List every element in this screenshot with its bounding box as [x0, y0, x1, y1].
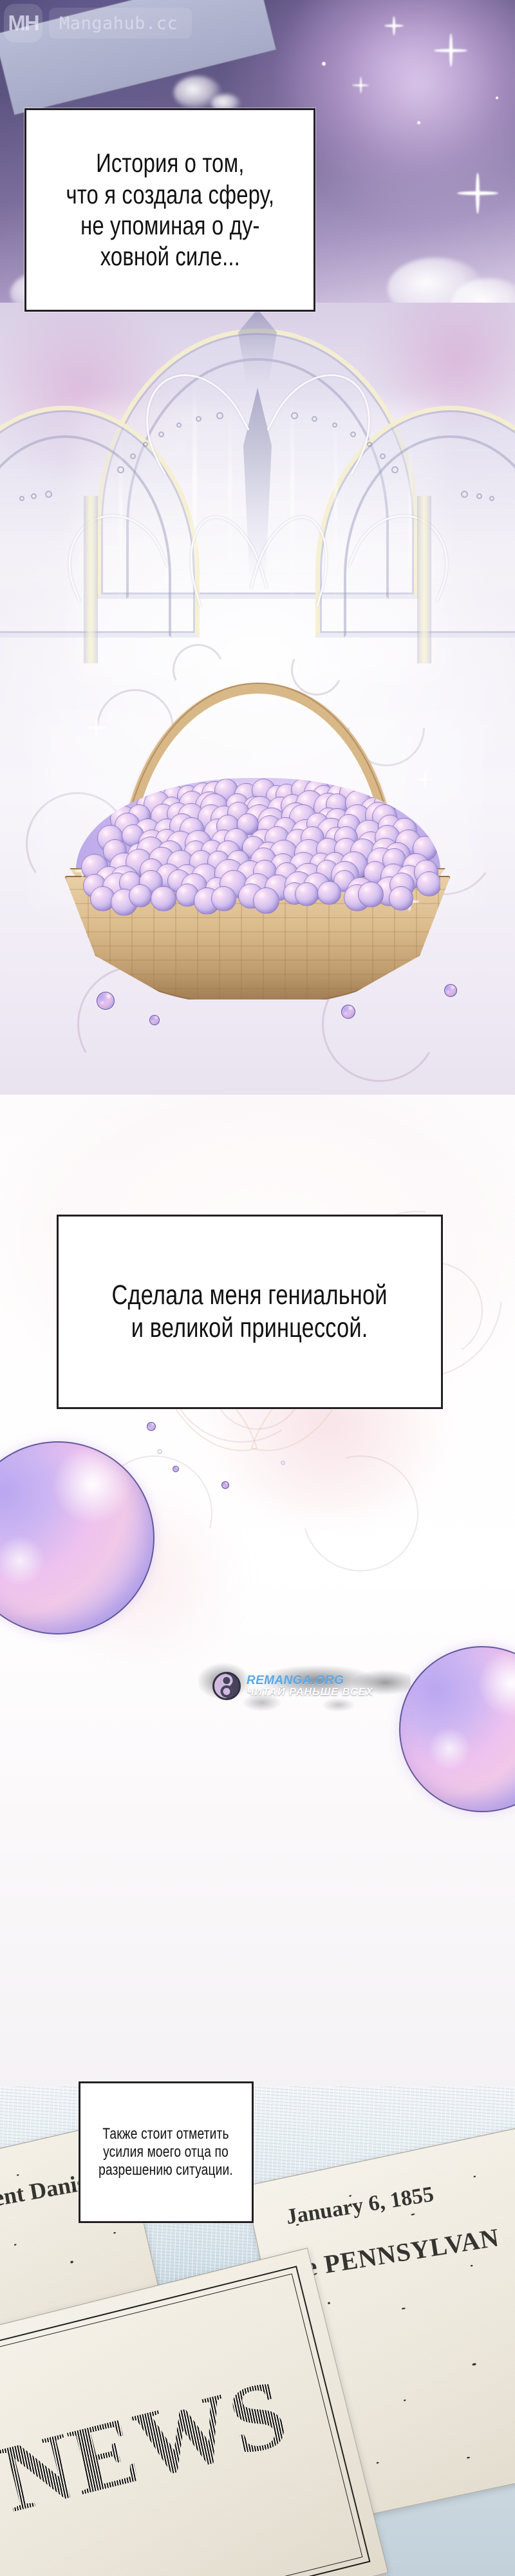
narration-box-2-text: Сделала меня гениальной и великой принце… [112, 1279, 388, 1344]
pillar [84, 496, 98, 663]
purple-sphere [211, 886, 236, 911]
remanga-text-group: REMANGA.ORG ЧИТАЙ РАНЬШЕ ВСЕХ [247, 1674, 373, 1698]
remanga-title: REMANGA.ORG [247, 1674, 373, 1687]
purple-sphere [151, 886, 176, 911]
site-name-label: Mangahub.cc [49, 8, 192, 39]
wicker-basket [64, 683, 451, 1005]
yin-yang-icon [212, 1672, 241, 1700]
purple-sphere [358, 882, 384, 907]
pillar [417, 496, 431, 663]
purple-sphere [295, 882, 319, 906]
orb-tiny-c [221, 1481, 229, 1489]
star-dot [322, 62, 326, 66]
remanga-subtitle: ЧИТАЙ РАНЬШЕ ВСЕХ [247, 1687, 373, 1698]
narration-box-1-text: История о том, что я создала сферу, не у… [66, 147, 274, 272]
site-watermark: MH Mangahub.cc [4, 4, 192, 43]
purple-sphere [417, 871, 440, 896]
orb-tiny-b [173, 1466, 179, 1472]
orb-tiny-a [147, 1422, 156, 1431]
narration-box-3-text: Также стоит отметить усилия моего отца п… [99, 2125, 234, 2180]
orb-small-a [97, 992, 115, 1010]
purple-sphere [317, 881, 341, 905]
narration-box-3: Также стоит отметить усилия моего отца п… [79, 2081, 254, 2223]
star-dot [417, 121, 420, 124]
orb-small-b [341, 1005, 355, 1019]
manga-page: REMANGA.ORG ЧИТАЙ РАНЬШЕ ВСЕХ January 6,… [0, 0, 515, 2576]
remanga-watermark: REMANGA.ORG ЧИТАЙ РАНЬШЕ ВСЕХ [212, 1660, 412, 1712]
orb-small-c [444, 984, 457, 997]
bead-row-far-left [19, 488, 77, 507]
star-dot [496, 97, 498, 99]
bead-row-far-right [443, 488, 501, 507]
narration-box-1: История о том, что я создала сферу, не у… [24, 108, 315, 312]
purple-sphere [129, 884, 152, 907]
mh-monogram-icon: MH [4, 4, 42, 43]
orb-small-d [149, 1015, 160, 1025]
narration-box-2: Сделала меня гениальной и великой принце… [57, 1215, 443, 1409]
